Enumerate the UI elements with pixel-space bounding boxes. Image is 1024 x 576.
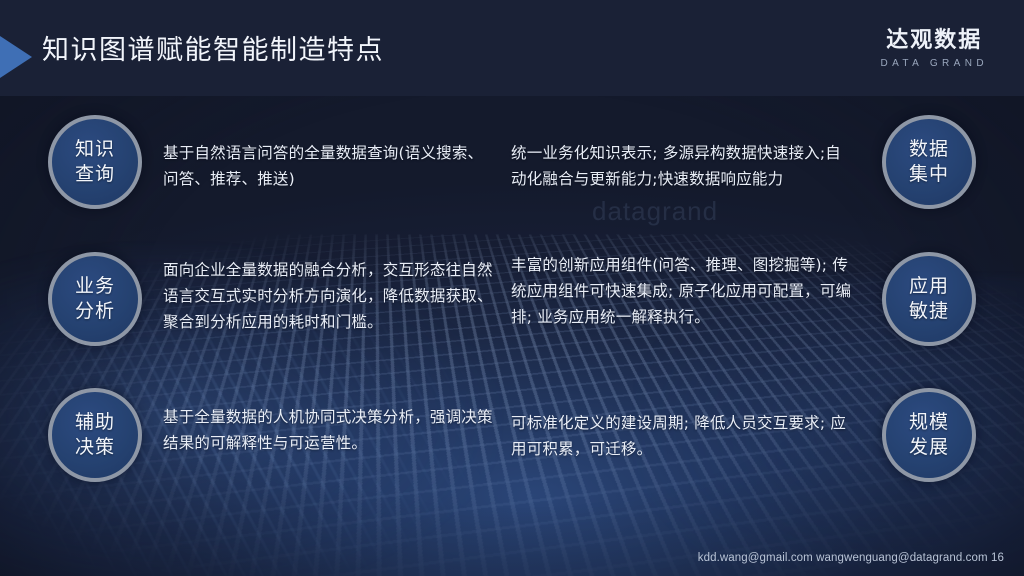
description-right-row1: 统一业务化知识表示; 多源异构数据快速接入;自动化融合与更新能力;快速数据响应能…: [511, 140, 856, 192]
node-decision-support[interactable]: 辅助 决策: [48, 388, 142, 482]
slide-root: datagrand 知识图谱赋能智能制造特点 达观数据 DATA GRAND 知…: [0, 0, 1024, 576]
node-data-centralization[interactable]: 数据 集中: [882, 115, 976, 209]
node-label-line1: 知识: [75, 137, 115, 162]
footer-contacts: kdd.wang@gmail.com wangwenguang@datagran…: [698, 550, 1004, 566]
node-label-line1: 辅助: [75, 410, 115, 435]
node-knowledge-query[interactable]: 知识 查询: [48, 115, 142, 209]
node-label-line1: 规模: [909, 410, 949, 435]
description-left-row3: 基于全量数据的人机协同式决策分析，强调决策结果的可解释性与可运营性。: [163, 404, 493, 456]
description-left-row1: 基于自然语言问答的全量数据查询(语义搜索、问答、推荐、推送): [163, 140, 493, 192]
description-right-row3: 可标准化定义的建设周期; 降低人员交互要求; 应用可积累，可迁移。: [511, 410, 856, 462]
node-label-line2: 敏捷: [909, 299, 949, 324]
node-business-analysis[interactable]: 业务 分析: [48, 252, 142, 346]
brand-name-cn: 达观数据: [880, 28, 988, 54]
node-label-line2: 决策: [75, 435, 115, 460]
brand-logo: 达观数据 DATA GRAND: [880, 28, 988, 71]
node-label-line2: 集中: [909, 162, 949, 187]
brand-name-en: DATA GRAND: [880, 57, 988, 71]
node-scale-development[interactable]: 规模 发展: [882, 388, 976, 482]
node-label-line2: 查询: [75, 162, 115, 187]
description-left-row2: 面向企业全量数据的融合分析，交互形态往自然语言交互式实时分析方向演化，降低数据获…: [163, 257, 493, 335]
node-label-line2: 发展: [909, 435, 949, 460]
node-label-line1: 应用: [909, 274, 949, 299]
description-right-row2: 丰富的创新应用组件(问答、推理、图挖掘等); 传统应用组件可快速集成; 原子化应…: [511, 252, 856, 330]
node-label-line1: 数据: [909, 137, 949, 162]
title-arrow-icon: [0, 36, 32, 78]
node-label-line2: 分析: [75, 299, 115, 324]
node-label-line1: 业务: [75, 274, 115, 299]
node-application-agility[interactable]: 应用 敏捷: [882, 252, 976, 346]
page-title: 知识图谱赋能智能制造特点: [42, 33, 384, 69]
